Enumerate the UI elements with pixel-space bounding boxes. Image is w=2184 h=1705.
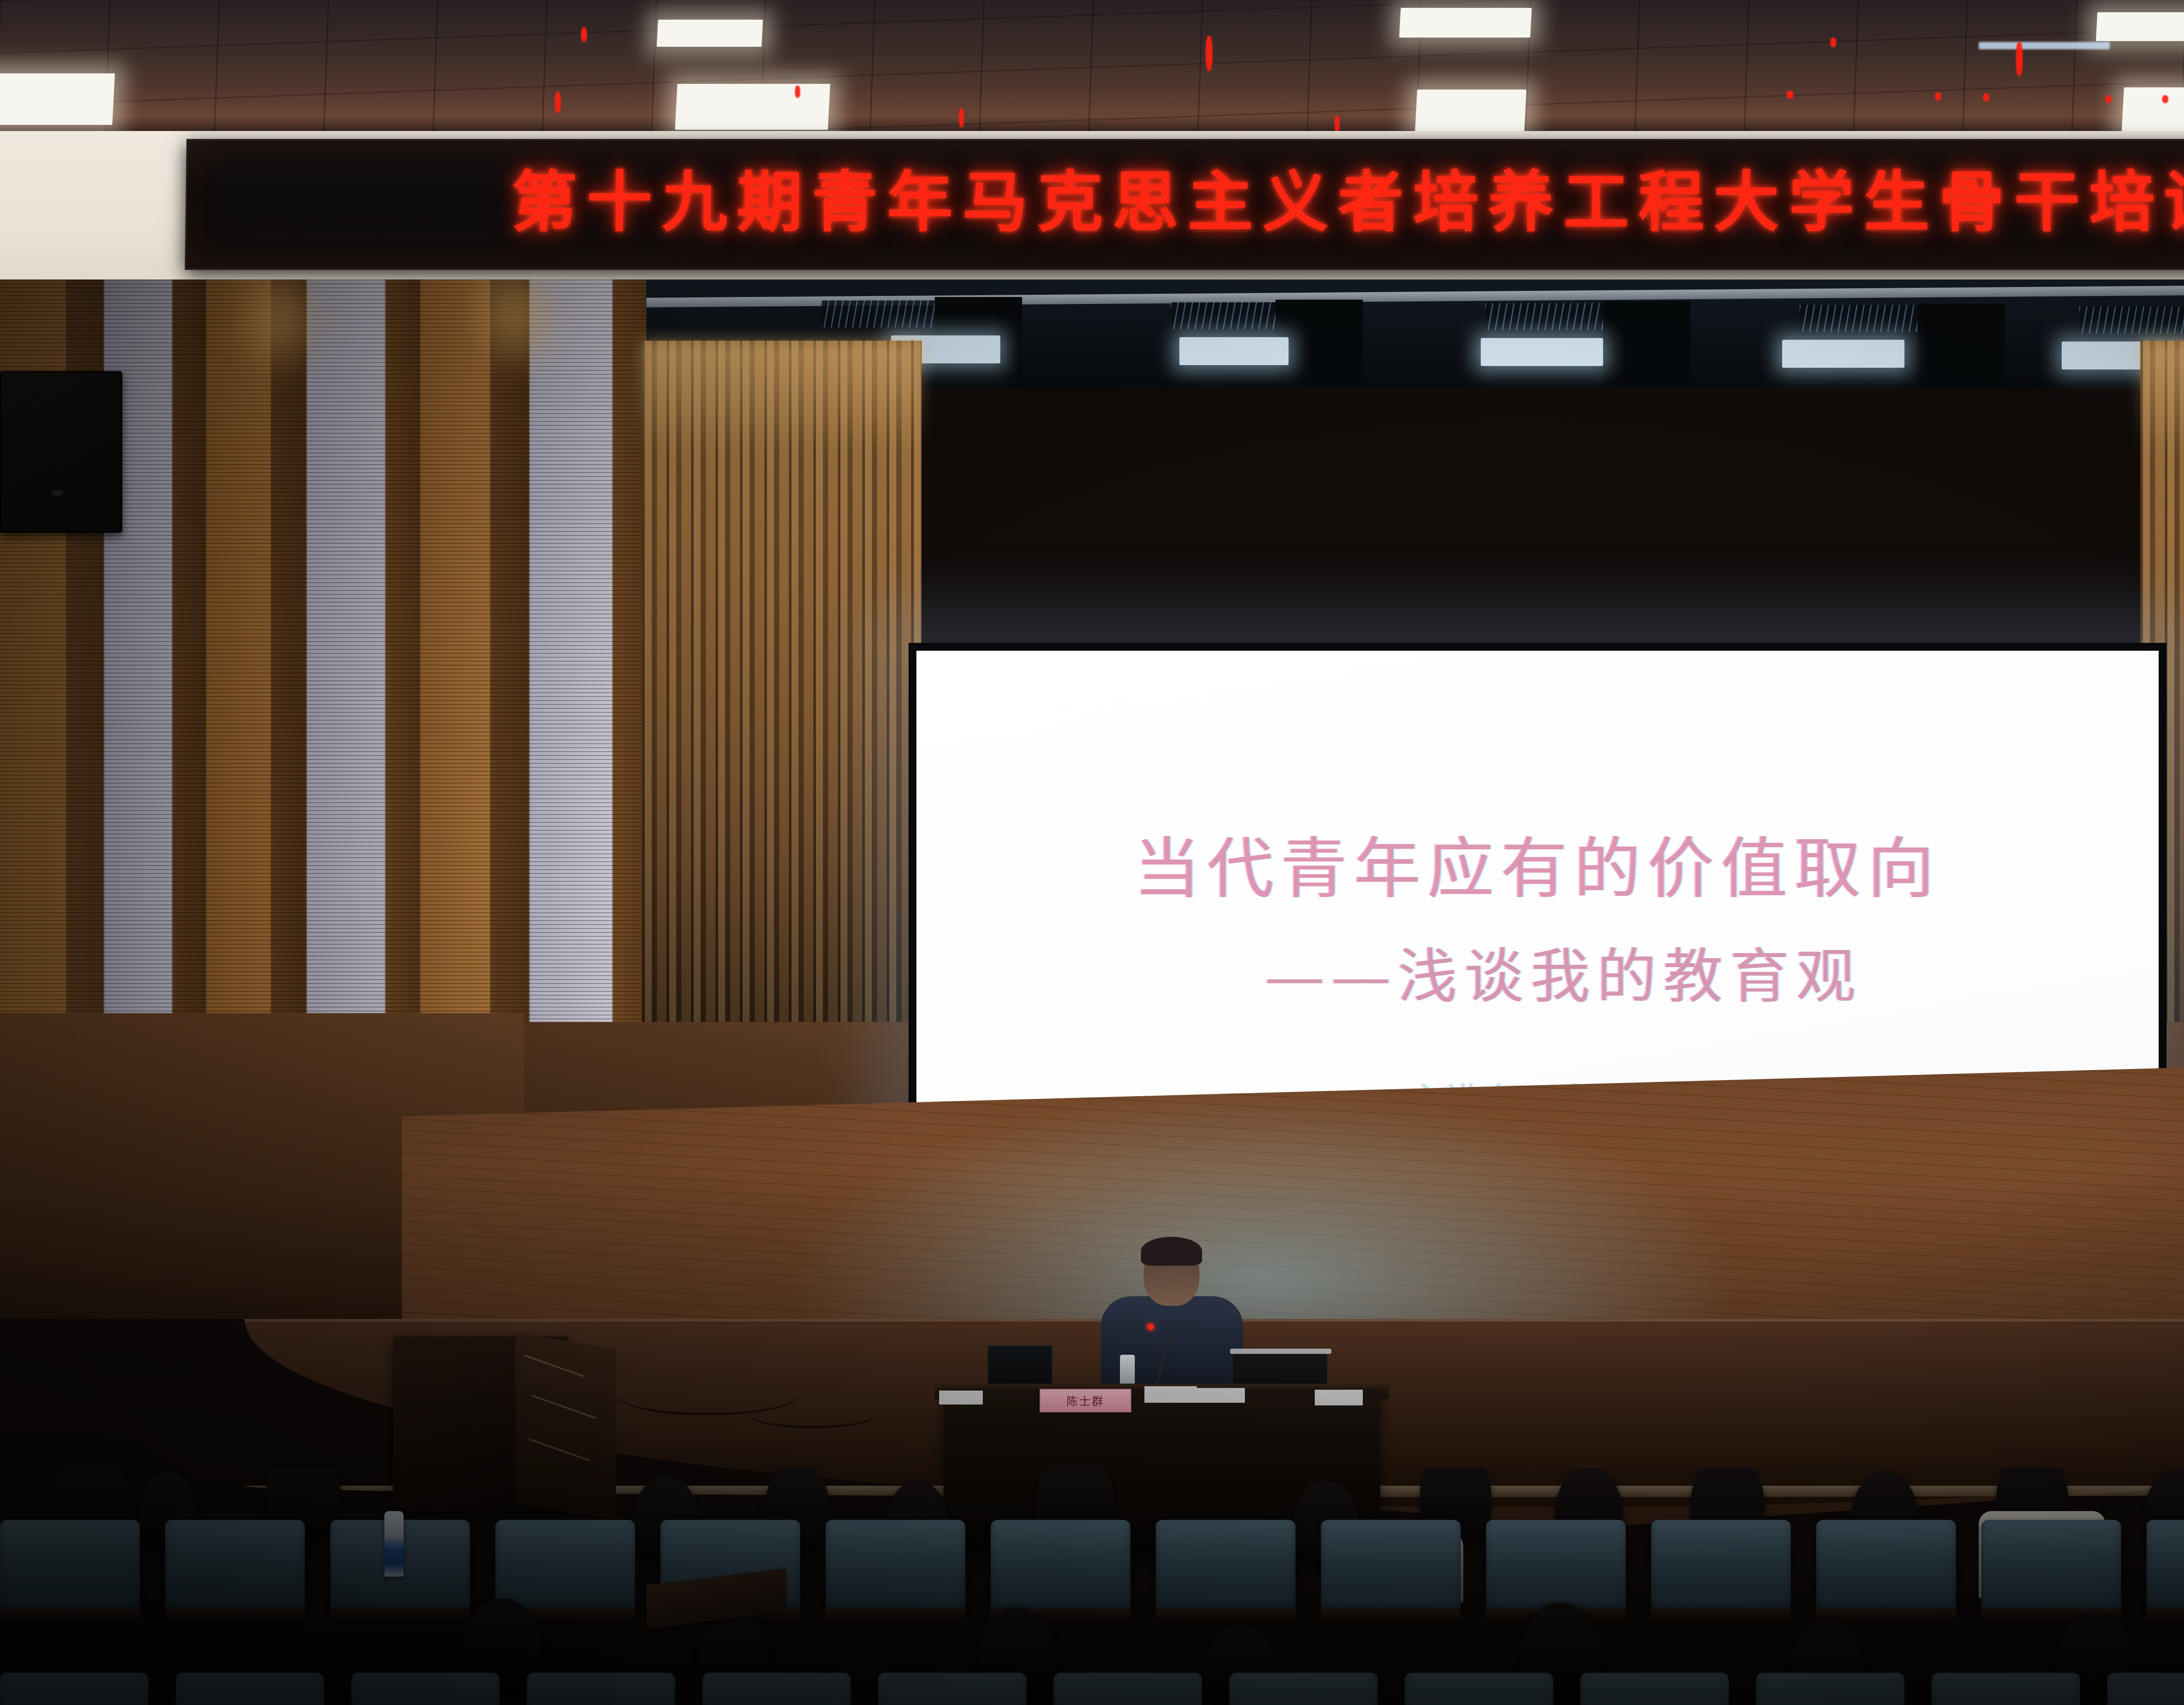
stage-light-bar bbox=[1782, 340, 1904, 368]
auditorium-seat[interactable] bbox=[991, 1520, 1130, 1612]
auditorium-seat[interactable] bbox=[495, 1520, 635, 1612]
stage-light-bar bbox=[1179, 337, 1289, 365]
soffit-dark-block bbox=[1918, 304, 2005, 387]
curtain-light-wash-left bbox=[642, 341, 922, 450]
audience-seating bbox=[0, 1467, 2184, 1705]
auditorium-photo: 第十九期青年马克思主义者培养工程大学生骨干培训班专题报告 bbox=[0, 0, 2184, 1705]
auditorium-seat[interactable] bbox=[702, 1673, 851, 1705]
floor-cable bbox=[743, 1389, 882, 1428]
ceiling-red-reflection bbox=[1983, 93, 1989, 101]
auditorium-seat[interactable] bbox=[1756, 1673, 1904, 1705]
podium-highlight bbox=[525, 1355, 585, 1377]
ceiling-red-reflection bbox=[581, 27, 587, 42]
auditorium-seat[interactable] bbox=[1651, 1520, 1791, 1612]
soffit-dark-block bbox=[1275, 300, 1363, 383]
ceiling-red-reflection bbox=[1787, 91, 1794, 99]
ceiling-light-panel bbox=[675, 84, 830, 130]
slide-subtitle: ——浅谈我的教育观 bbox=[1213, 946, 1863, 1008]
auditorium-seat[interactable] bbox=[0, 1673, 149, 1705]
table-paper bbox=[1197, 1388, 1245, 1403]
soffit-light-grill bbox=[1800, 305, 1922, 332]
speaker-hair bbox=[1141, 1237, 1202, 1266]
auditorium-seat[interactable] bbox=[351, 1673, 500, 1705]
auditorium-seat[interactable] bbox=[1321, 1520, 1461, 1612]
table-paper bbox=[1144, 1386, 1197, 1403]
water-bottle bbox=[384, 1511, 404, 1577]
auditorium-seat[interactable] bbox=[878, 1673, 1026, 1705]
ceiling-red-reflection bbox=[1935, 93, 1941, 100]
podium-highlight bbox=[532, 1394, 596, 1419]
soffit-light-grill bbox=[2079, 307, 2184, 334]
ceiling-red-reflection bbox=[2016, 42, 2023, 76]
auditorium-seat[interactable] bbox=[826, 1520, 965, 1612]
ceiling-red-reflection bbox=[1334, 116, 1340, 132]
led-banner-text: 第十九期青年马克思主义者培养工程大学生骨干培训班专题报告 bbox=[503, 170, 2184, 235]
table-paper bbox=[939, 1391, 983, 1405]
podium-highlight bbox=[529, 1438, 589, 1461]
auditorium-seat[interactable] bbox=[1932, 1673, 2080, 1705]
microphone-led-icon bbox=[1147, 1323, 1154, 1330]
slide-title: 当代青年应有的价值取向 bbox=[1134, 834, 1941, 904]
auditorium-seat[interactable] bbox=[2146, 1520, 2184, 1612]
soffit-light-grill bbox=[821, 300, 939, 328]
ceiling-red-reflection bbox=[2162, 95, 2168, 103]
auditorium-seat[interactable] bbox=[2107, 1673, 2184, 1705]
ceiling-red-reflection bbox=[795, 86, 800, 98]
led-banner: 第十九期青年马克思主义者培养工程大学生骨干培训班专题报告 bbox=[185, 139, 2184, 270]
speaker-person bbox=[1092, 1240, 1249, 1393]
soffit-light-grill bbox=[1171, 302, 1284, 329]
seat-row bbox=[0, 1673, 2184, 1705]
auditorium-seat[interactable] bbox=[1405, 1673, 1553, 1705]
ceiling-red-reflection bbox=[555, 92, 561, 113]
auditorium-seat[interactable] bbox=[1156, 1520, 1296, 1612]
auditorium-seat[interactable] bbox=[527, 1673, 675, 1705]
table-paper bbox=[1315, 1390, 1363, 1405]
ceiling-light-panel bbox=[1399, 8, 1532, 38]
soffit-dark-block bbox=[1603, 301, 1690, 384]
ceiling-light-panel bbox=[1415, 90, 1526, 131]
ceiling-red-reflection bbox=[1206, 36, 1213, 71]
soffit-light-grill bbox=[1485, 303, 1621, 330]
auditorium-seat[interactable] bbox=[1054, 1673, 1202, 1705]
ceiling-light-panel bbox=[2096, 12, 2184, 41]
stage-curtain-left bbox=[642, 341, 922, 1083]
wall-speaker-left bbox=[0, 371, 122, 533]
ceiling-red-reflection bbox=[1830, 38, 1836, 47]
ceiling-light-panel bbox=[657, 20, 763, 47]
ceiling-light-panel bbox=[0, 73, 115, 125]
auditorium-seat[interactable] bbox=[1981, 1520, 2121, 1612]
nameplate: 陈士群 bbox=[1040, 1389, 1131, 1412]
auditorium-seat[interactable] bbox=[1816, 1520, 1956, 1612]
auditorium-interior: 当代青年应有的价值取向 ——浅谈我的教育观 主讲人：陈士群 bbox=[0, 280, 2184, 1705]
seat-row bbox=[0, 1520, 2184, 1612]
ceiling bbox=[0, 0, 2184, 135]
ceiling-red-reflection bbox=[2105, 95, 2111, 103]
curtain-light-wash-right bbox=[2140, 341, 2184, 450]
ceiling-light-panel bbox=[2122, 87, 2184, 131]
auditorium-seat[interactable] bbox=[0, 1520, 140, 1612]
auditorium-seat[interactable] bbox=[1580, 1673, 1729, 1705]
ceiling-red-reflection bbox=[959, 108, 964, 128]
ceiling-tile-grid bbox=[0, 0, 2184, 135]
auditorium-seat[interactable] bbox=[165, 1520, 305, 1612]
auditorium-seat[interactable] bbox=[1229, 1673, 1378, 1705]
ceiling-blue-reflection bbox=[1979, 42, 2110, 49]
auditorium-seat[interactable] bbox=[1486, 1520, 1626, 1612]
stage-light-bar bbox=[1481, 338, 1603, 366]
auditorium-seat[interactable] bbox=[176, 1673, 324, 1705]
